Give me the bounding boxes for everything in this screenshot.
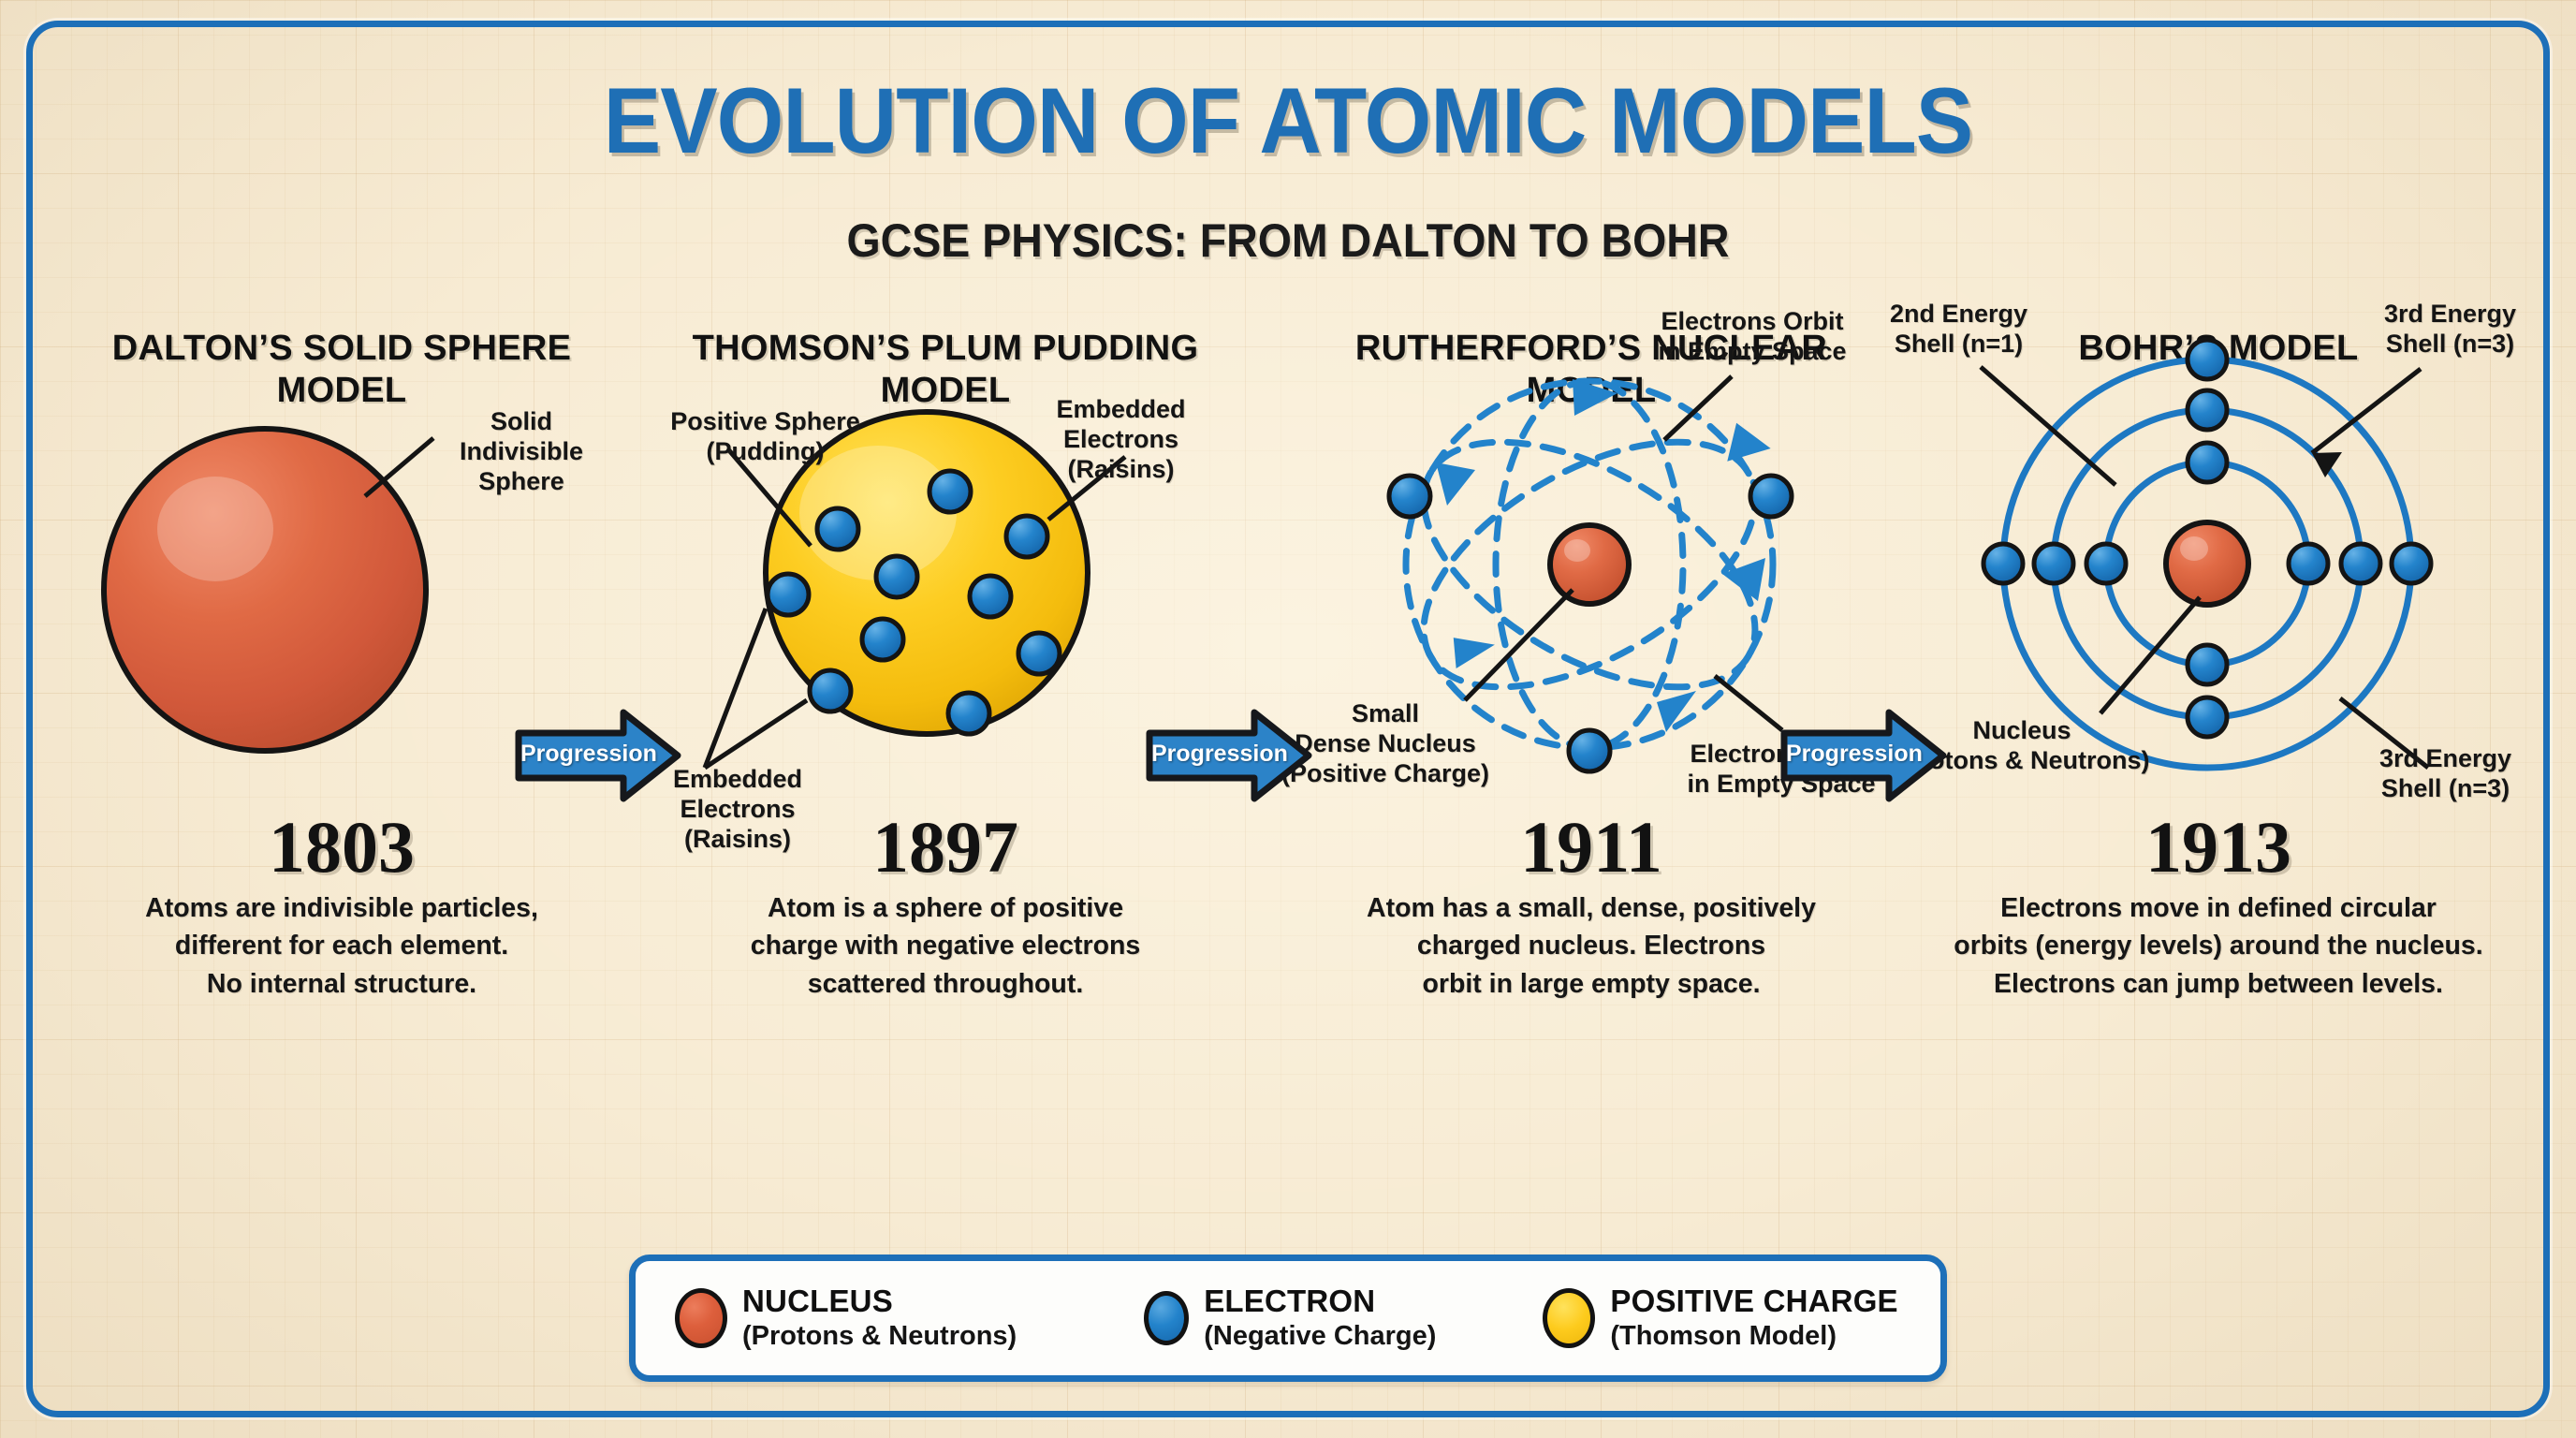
year-bohr: 1913 xyxy=(1919,805,2518,889)
nucleus-highlight xyxy=(1564,539,1590,562)
rutherford-leader-orbit-top xyxy=(1664,376,1732,440)
year-rutherford: 1911 xyxy=(1292,805,1891,889)
legend-title-electron: ELECTRON xyxy=(1204,1285,1436,1318)
label-third-energy-shell-top: 3rd Energy Shell (n=3) xyxy=(2349,300,2551,359)
progression-arrow-2: Progression xyxy=(1144,707,1314,804)
bohr-arrow-shell3-top xyxy=(2312,369,2421,477)
progression-arrow-shape-2 xyxy=(1144,707,1314,804)
description-dalton: Atoms are indivisible particles, differe… xyxy=(42,889,641,1003)
dalton-sphere-highlight xyxy=(157,477,273,581)
thomson-leader-raisins-bottom-b xyxy=(705,609,766,768)
progression-arrow-3: Progression xyxy=(1778,707,1949,804)
page-title: EVOLUTION OF ATOMIC MODELS xyxy=(90,67,2485,174)
legend-panel: NUCLEUS (Protons & Neutrons) ELECTRON (N… xyxy=(629,1255,1947,1382)
year-dalton: 1803 xyxy=(42,805,641,889)
bohr-nucleus xyxy=(2166,522,2248,605)
electron-dot-icon xyxy=(1144,1291,1189,1345)
nucleus-dot-icon xyxy=(675,1288,727,1348)
legend-item-electron: ELECTRON (Negative Charge) xyxy=(1144,1285,1436,1351)
legend-item-nucleus: NUCLEUS (Protons & Neutrons) xyxy=(675,1285,1017,1351)
label-second-energy-shell: 2nd Energy Shell (n=1) xyxy=(1858,300,2059,359)
bohr-leader-nucleus xyxy=(2100,597,2200,713)
description-thomson: Atom is a sphere of positive charge with… xyxy=(646,889,1245,1003)
progression-arrow-1: Progression xyxy=(513,707,683,804)
dalton-leader-line xyxy=(365,438,433,496)
progression-arrow-shape-3 xyxy=(1778,707,1949,804)
progression-arrow-shape-1 xyxy=(513,707,683,804)
label-positive-sphere-pudding: Positive Sphere (Pudding) xyxy=(641,407,889,467)
legend-title-positive-charge: POSITIVE CHARGE xyxy=(1610,1285,1897,1318)
label-embedded-electrons-top: Embedded Electrons (Raisins) xyxy=(1016,395,1226,485)
description-rutherford: Atom has a small, dense, positively char… xyxy=(1292,889,1891,1003)
description-bohr: Electrons move in defined circular orbit… xyxy=(1877,889,2560,1003)
page-subtitle: GCSE PHYSICS: FROM DALTON TO BOHR xyxy=(90,213,2485,268)
label-third-energy-shell-bottom: 3rd Energy Shell (n=3) xyxy=(2345,744,2546,804)
legend-subtitle-electron: (Negative Charge) xyxy=(1204,1321,1436,1351)
legend-subtitle-positive-charge: (Thomson Model) xyxy=(1610,1321,1897,1351)
legend-item-positive-charge: POSITIVE CHARGE (Thomson Model) xyxy=(1543,1285,1897,1351)
legend-subtitle-nucleus: (Protons & Neutrons) xyxy=(742,1321,1017,1351)
rutherford-nucleus xyxy=(1550,525,1629,604)
dalton-solid-sphere xyxy=(104,429,426,751)
legend-title-nucleus: NUCLEUS xyxy=(742,1285,1017,1318)
label-electrons-orbit-top: Electrons Orbit in Empty Space xyxy=(1621,307,1883,367)
bohr-leader-shell2 xyxy=(1981,367,2115,485)
model-column-bohr: BOHR’S MODEL xyxy=(1919,328,2518,1255)
positive-charge-dot-icon xyxy=(1543,1288,1595,1348)
year-thomson: 1897 xyxy=(646,805,1245,889)
rutherford-leader-orbit-bottom xyxy=(1715,676,1782,730)
bohr-nucleus-highlight xyxy=(2180,536,2208,561)
label-solid-indivisible-sphere: Solid Indivisible Sphere xyxy=(428,407,615,497)
